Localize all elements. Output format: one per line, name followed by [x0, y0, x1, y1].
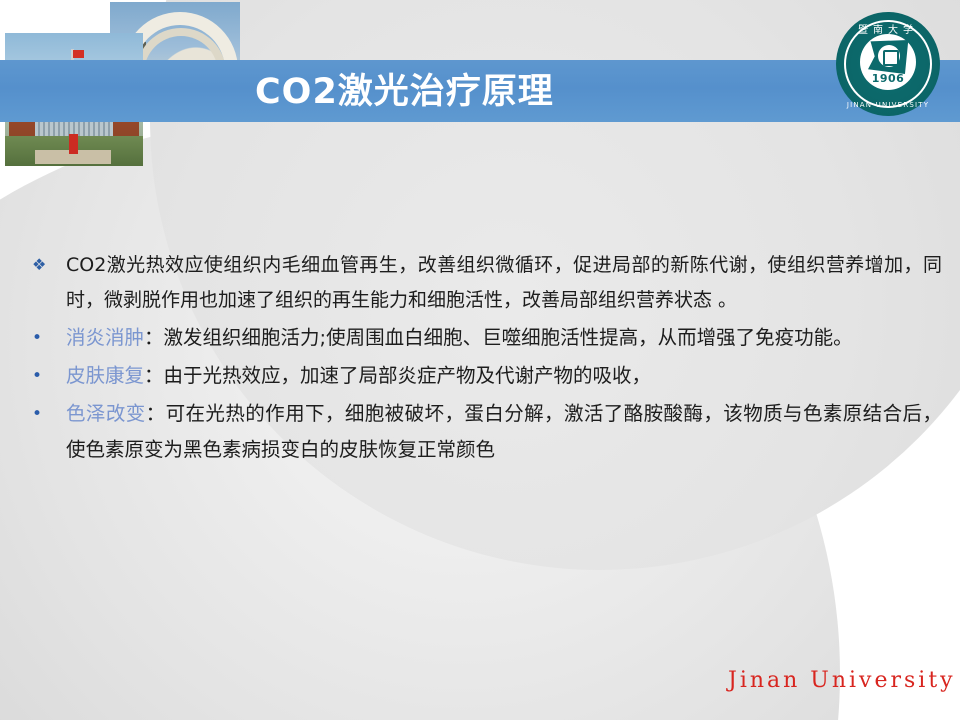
- slide-canvas: CO2激光治疗原理 暨南大学 1906 JINAN UNIVERSITY ❖ C…: [0, 0, 960, 720]
- seal-name-en: JINAN UNIVERSITY: [836, 101, 940, 109]
- bullet-lead-term: 皮肤康复: [66, 364, 144, 387]
- flag-shape: [73, 50, 84, 58]
- slide-title: CO2激光治疗原理: [255, 64, 815, 120]
- bullet-body-text: 由于光热效应，加速了局部炎症产物及代谢产物的吸收，: [164, 364, 652, 387]
- bullet-item: ❖ CO2激光热效应使组织内毛细血管再生，改善组织微循环，促进局部的新陈代谢，使…: [24, 248, 942, 318]
- bullet-marker-diamond: ❖: [24, 248, 66, 282]
- footer-brand: Jinan University: [728, 668, 956, 693]
- bullet-marker-dot: •: [24, 358, 66, 394]
- bullet-item: • 色泽改变：可在光热的作用下，细胞被破坏，蛋白分解，激活了酪胺酸酶，该物质与色…: [24, 396, 942, 468]
- bullet-marker-dot: •: [24, 320, 66, 356]
- bullet-text: CO2激光热效应使组织内毛细血管再生，改善组织微循环，促进局部的新陈代谢，使组织…: [66, 248, 942, 318]
- bullet-lead-term: 消炎消肿: [66, 326, 144, 349]
- bullet-body-text: 可在光热的作用下，细胞被破坏，蛋白分解，激活了酪胺酸酶，该物质与色素原结合后，使…: [66, 402, 942, 461]
- campus-banner-shape: [69, 134, 78, 154]
- bullet-item: • 皮肤康复：由于光热效应，加速了局部炎症产物及代谢产物的吸收，: [24, 358, 942, 394]
- seal-emblem-glyph: [883, 50, 899, 66]
- bullet-body-text: CO2激光热效应使组织内毛细血管再生，改善组织微循环，促进局部的新陈代谢，使组织…: [66, 254, 942, 311]
- slide-body: ❖ CO2激光热效应使组织内毛细血管再生，改善组织微循环，促进局部的新陈代谢，使…: [24, 248, 942, 468]
- bullet-lead-term: 色泽改变: [66, 402, 146, 425]
- bullet-separator: ：: [144, 364, 164, 387]
- seal-founding-year: 1906: [836, 72, 940, 85]
- bullet-marker-dot: •: [24, 396, 66, 432]
- jinan-university-seal-logo: 暨南大学 1906 JINAN UNIVERSITY: [836, 12, 940, 116]
- bullet-separator: ：: [146, 402, 166, 425]
- bullet-separator: ：: [144, 326, 164, 349]
- bullet-text: 消炎消肿：激发组织细胞活力;使周围血白细胞、巨噬细胞活性提高，从而增强了免疫功能…: [66, 320, 942, 356]
- bullet-text: 色泽改变：可在光热的作用下，细胞被破坏，蛋白分解，激活了酪胺酸酶，该物质与色素原…: [66, 396, 942, 468]
- bullet-item: • 消炎消肿：激发组织细胞活力;使周围血白细胞、巨噬细胞活性提高，从而增强了免疫…: [24, 320, 942, 356]
- bullet-body-text: 激发组织细胞活力;使周围血白细胞、巨噬细胞活性提高，从而增强了免疫功能。: [164, 326, 853, 349]
- bullet-text: 皮肤康复：由于光热效应，加速了局部炎症产物及代谢产物的吸收，: [66, 358, 942, 394]
